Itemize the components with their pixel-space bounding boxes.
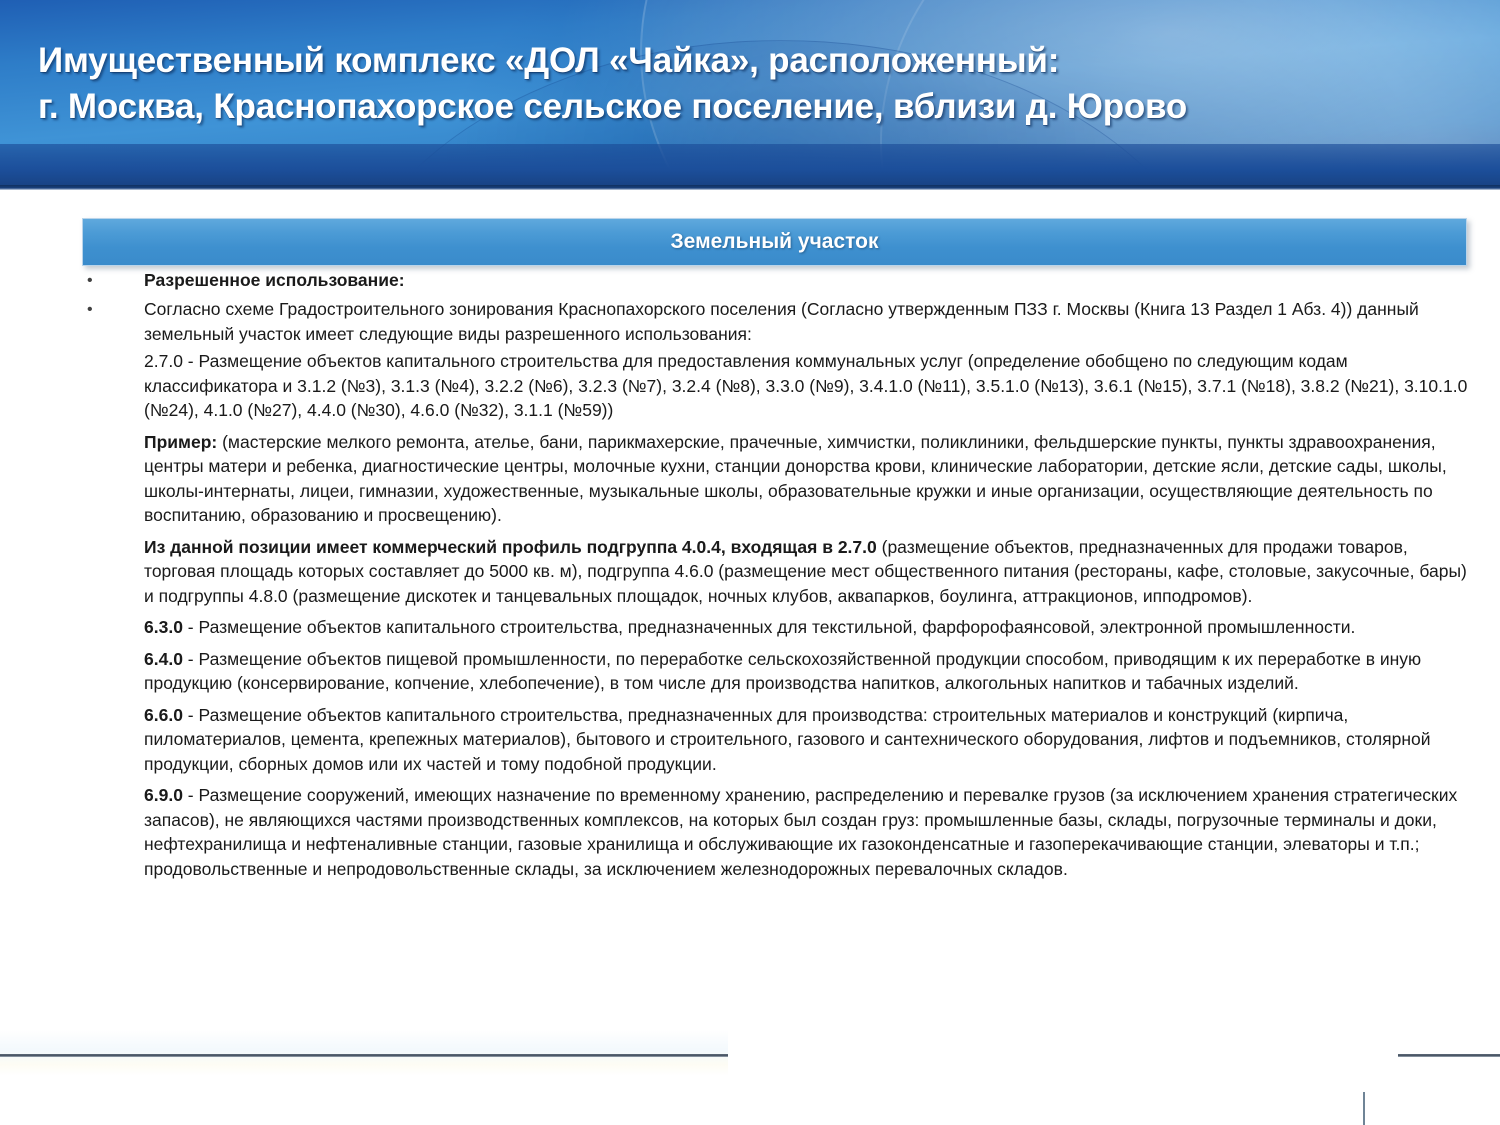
paragraph-body: - Размещение сооружений, имеющих назначе…: [144, 785, 1457, 879]
paragraph-lead: 6.6.0: [144, 705, 183, 725]
list-item: • Согласно схеме Градостроительного зони…: [82, 297, 1472, 346]
section-header-title: Земельный участок: [82, 218, 1467, 266]
paragraph-body: - Размещение объектов капитального строи…: [144, 705, 1431, 774]
paragraph-body: 2.7.0 - Размещение объектов капитального…: [144, 351, 1467, 420]
paragraph-body: - Размещение объектов пищевой промышленн…: [144, 649, 1421, 694]
bullet-marker-icon: •: [82, 268, 144, 294]
paragraph-lead: 6.9.0: [144, 785, 183, 805]
paragraph-code-2-7-0: 2.7.0 - Размещение объектов капитального…: [144, 349, 1472, 423]
paragraph-code-6-9-0: 6.9.0 - Размещение сооружений, имеющих н…: [144, 783, 1472, 881]
footer-divider-right: [1398, 1054, 1500, 1057]
bullet-text-permitted-use: Разрешенное использование:: [144, 268, 1472, 293]
slide-header-banner: Имущественный комплекс «ДОЛ «Чайка», рас…: [0, 0, 1500, 190]
paragraph-code-6-4-0: 6.4.0 - Размещение объектов пищевой пром…: [144, 647, 1472, 696]
footer-glow-decoration: [0, 1030, 728, 1076]
paragraph-lead: Из данной позиции имеет коммерческий про…: [144, 537, 877, 557]
footer-tick-mark: [1363, 1092, 1365, 1125]
paragraph-example: Пример: (мастерские мелкого ремонта, ате…: [144, 430, 1472, 528]
paragraph-code-6-3-0: 6.3.0 - Размещение объектов капитального…: [144, 615, 1472, 640]
section-header-bar: Земельный участок: [82, 218, 1467, 266]
footer-divider-left: [0, 1054, 728, 1057]
list-item: • Разрешенное использование:: [82, 268, 1472, 294]
paragraph-body: - Размещение объектов капитального строи…: [183, 617, 1355, 637]
content-body: • Разрешенное использование: • Согласно …: [82, 268, 1472, 888]
bullet-marker-icon: •: [82, 297, 144, 323]
page-title: Имущественный комплекс «ДОЛ «Чайка», рас…: [38, 38, 1468, 130]
paragraph-code-6-6-0: 6.6.0 - Размещение объектов капитального…: [144, 703, 1472, 777]
paragraph-lead: 6.4.0: [144, 649, 183, 669]
header-bottom-strip: [0, 144, 1500, 190]
paragraph-lead: 6.3.0: [144, 617, 183, 637]
paragraph-commercial-profile: Из данной позиции имеет коммерческий про…: [144, 535, 1472, 609]
header-bottom-rule: [0, 185, 1500, 190]
bullet-text-zoning-scheme: Согласно схеме Градостроительного зониро…: [144, 297, 1472, 346]
paragraph-body: (мастерские мелкого ремонта, ателье, бан…: [144, 432, 1447, 526]
paragraph-lead: Пример:: [144, 432, 217, 452]
